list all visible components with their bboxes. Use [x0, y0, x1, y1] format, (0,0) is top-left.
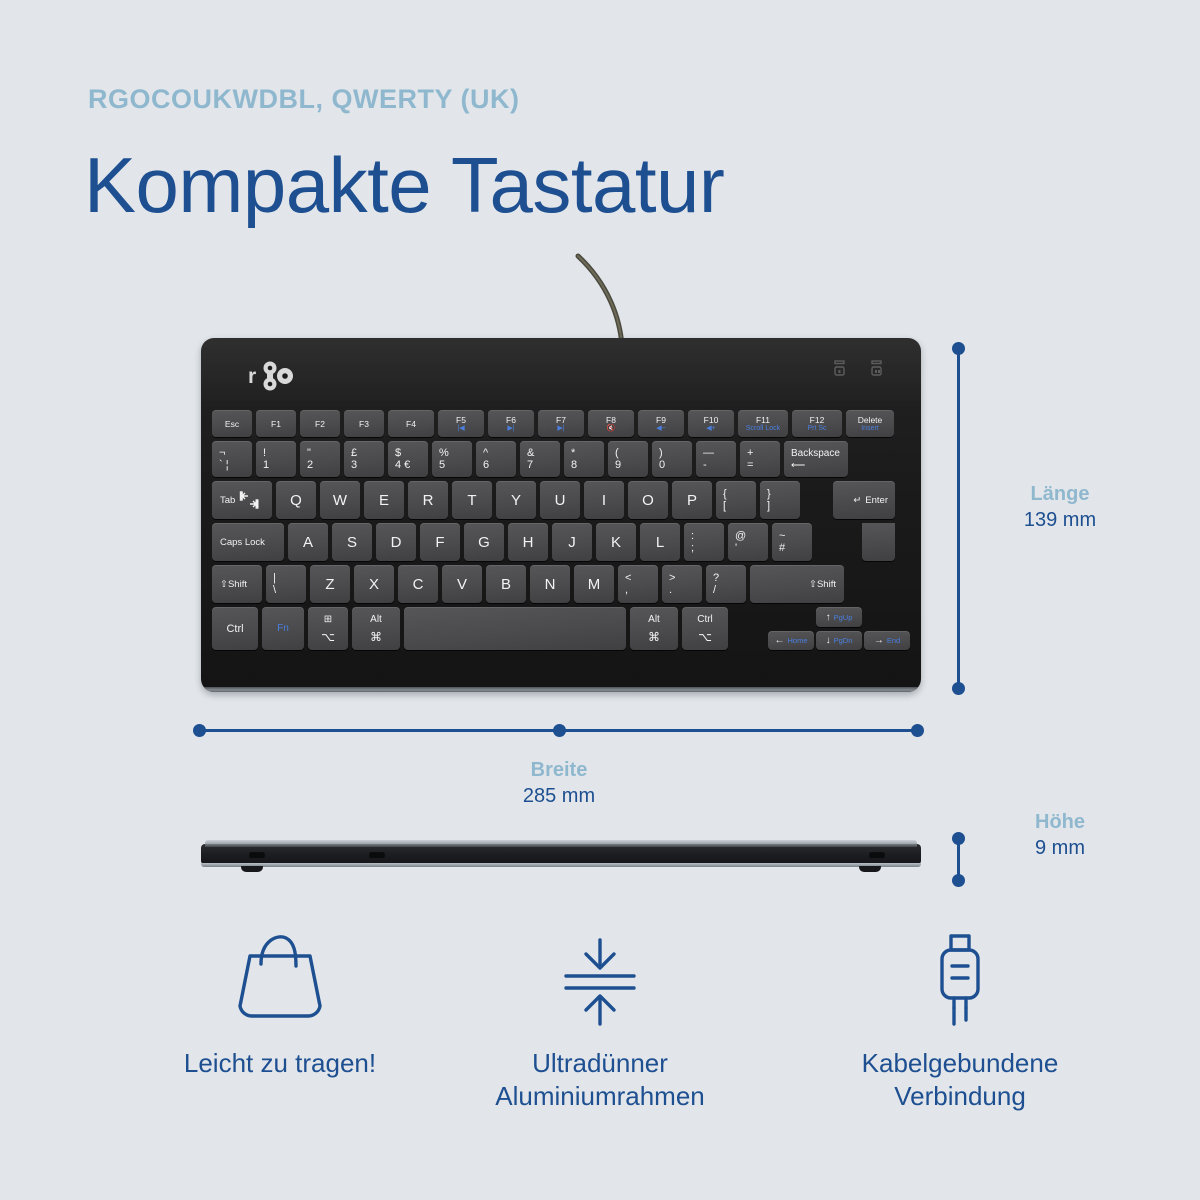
key-shifted-label: £	[351, 448, 357, 459]
home-key-row: Caps LockASDFGHJKL:;@'~#	[212, 523, 816, 561]
key-4[interactable]: $4 €	[388, 441, 428, 477]
key-label: -	[703, 460, 707, 471]
length-dot-bottom	[952, 682, 965, 695]
key-label: /	[713, 585, 716, 596]
key-shifted-label: *	[571, 448, 575, 459]
key-label: 7	[527, 460, 533, 471]
key-d[interactable]: D	[376, 523, 416, 561]
key-label: D	[391, 534, 402, 551]
key-label: N	[545, 576, 556, 593]
key-alt-key[interactable]: Alt⌘	[352, 607, 400, 650]
key-alt-label: ⌥	[321, 631, 335, 643]
key-key[interactable]: ¬` ¦	[212, 441, 252, 477]
key-arrow-pgup[interactable]: ↑PgUp	[816, 607, 862, 627]
key-arrow-glyph: →	[874, 635, 884, 646]
key-label: F5	[456, 415, 466, 425]
key-z[interactable]: Z	[310, 565, 350, 603]
height-label: Höhe	[985, 810, 1135, 835]
key-label: P	[687, 492, 697, 509]
rubber-foot-right	[859, 866, 881, 872]
key-label: M	[588, 576, 601, 593]
key-label: F7	[556, 415, 566, 425]
key-l[interactable]: L	[640, 523, 680, 561]
key-alt-label: ⌘	[370, 631, 382, 643]
modifier-key-row: CtrlFn⊞⌥Alt⌘Alt⌘Ctrl⌥	[212, 607, 732, 650]
key-fn[interactable]: Fn	[262, 607, 304, 650]
svg-text:r: r	[248, 365, 256, 388]
key-label: 5	[439, 460, 445, 471]
key-shifted-label: ~	[779, 531, 785, 542]
key-label: ` ¦	[219, 460, 229, 471]
enter-arrow-icon: ↵	[853, 495, 861, 506]
enter-key-top: ↵ Enter	[833, 481, 895, 519]
shopping-bag-icon	[228, 928, 332, 1032]
key-arrow-end[interactable]: →End	[864, 631, 910, 650]
key-label: I	[602, 492, 606, 509]
key-sublabel: Home	[787, 636, 807, 645]
keyboard-cable	[500, 248, 660, 348]
key-key[interactable]: {[	[716, 481, 756, 519]
width-label: Breite	[484, 758, 634, 783]
page-title: Kompakte Tastatur	[84, 140, 724, 231]
key-shifted-label: ^	[483, 448, 488, 459]
infographic-canvas: RGOCOUKWDBL, QWERTY (UK) Kompakte Tastat…	[0, 0, 1200, 1200]
key-key[interactable]: +=	[740, 441, 780, 477]
key-label: E	[379, 492, 389, 509]
key-key[interactable]: ?/	[706, 565, 746, 603]
length-dimension-line	[957, 348, 960, 688]
key-key[interactable]: <,	[618, 565, 658, 603]
key-label: F6	[506, 415, 516, 425]
key-arrow-glyph: ↓	[826, 635, 831, 646]
feature-thin: Ultradünner Aluminiumrahmen	[420, 925, 780, 1113]
bezel-highlight	[201, 338, 921, 410]
key-key[interactable]: >.	[662, 565, 702, 603]
key-a[interactable]: A	[288, 523, 328, 561]
key-f9[interactable]: F9◀−	[638, 410, 684, 437]
key-ctrl-key[interactable]: Ctrl⌥	[682, 607, 728, 650]
key-label: =	[747, 460, 753, 471]
key-label: F	[435, 534, 444, 551]
qwerty-key-row: TabQWERTYUIOP{[}]	[212, 481, 804, 519]
key-tab[interactable]: Tab	[212, 481, 272, 519]
key-p[interactable]: P	[672, 481, 712, 519]
key-j[interactable]: J	[552, 523, 592, 561]
key-label: C	[413, 576, 424, 593]
key-key-key[interactable]: ⊞⌥	[308, 607, 348, 650]
key-label: Ctrl	[226, 623, 243, 635]
key-shifted-label: +	[747, 448, 753, 459]
key-label: 0	[659, 460, 665, 471]
enter-key[interactable]: ↵ Enter	[833, 481, 895, 561]
key-shifted-label: |	[273, 573, 276, 584]
key-shifted-label: :	[691, 531, 694, 542]
key-label: Tab	[220, 495, 235, 506]
key-label: ,	[625, 585, 628, 596]
length-label: Länge	[985, 482, 1135, 507]
status-led-indicators	[831, 358, 893, 380]
side-keycap-strip	[205, 840, 917, 847]
key-label: F12	[810, 415, 825, 425]
key-label: H	[523, 534, 534, 551]
key-f3[interactable]: F3	[344, 410, 384, 437]
key-sublabel: ▶|	[557, 425, 564, 433]
tab-arrows-icon	[239, 491, 259, 509]
key-label: V	[457, 576, 467, 593]
key-shifted-label: ¬	[219, 448, 225, 459]
key-label: X	[369, 576, 379, 593]
side-body	[201, 844, 921, 864]
key-shifted-label: {	[723, 489, 727, 500]
key-shift[interactable]: ⇧Shift	[750, 565, 844, 603]
key-label: 8	[571, 460, 577, 471]
key-alt-label: ⌥	[698, 631, 712, 643]
feature-wired: Kabelgebundene Verbindung	[780, 925, 1140, 1113]
side-port-left	[249, 851, 265, 858]
key-sublabel: ▶|	[507, 425, 514, 433]
key-3[interactable]: £3	[344, 441, 384, 477]
key-label: 3	[351, 460, 357, 471]
key-sublabel: PgDn	[834, 636, 853, 645]
key-label: Y	[511, 492, 521, 509]
key-label: G	[478, 534, 490, 551]
key-label: Alt	[370, 614, 382, 625]
key-2[interactable]: "2	[300, 441, 340, 477]
feature-wired-line2: Verbindung	[780, 1080, 1140, 1113]
key-label: #	[779, 543, 785, 554]
key-label: 1	[263, 460, 269, 471]
length-value: 139 mm	[985, 507, 1135, 533]
key-arrow-glyph: ←	[774, 635, 784, 646]
key-label: Alt	[648, 614, 660, 625]
usb-plug-icon	[908, 928, 1012, 1032]
key-f1[interactable]: F1	[256, 410, 296, 437]
key-sublabel: ◀−	[656, 425, 665, 433]
key-c[interactable]: C	[398, 565, 438, 603]
key-label: Q	[290, 492, 302, 509]
key-label: F2	[315, 419, 325, 429]
key-sublabel: ◀+	[706, 425, 715, 433]
key-label: A	[303, 534, 313, 551]
key-f11[interactable]: F11Scroll Lock	[738, 410, 788, 437]
key-label: 6	[483, 460, 489, 471]
key-arrow-glyph: ↑	[826, 612, 831, 623]
key-u[interactable]: U	[540, 481, 580, 519]
key-shifted-label: %	[439, 448, 449, 459]
key-f12[interactable]: F12Prt Sc	[792, 410, 842, 437]
key-backspace[interactable]: Backspace⟵	[784, 441, 848, 477]
key-arrow-icon: ⟵	[791, 460, 805, 471]
key-sublabel: 🔇	[607, 425, 616, 433]
key-f10[interactable]: F10◀+	[688, 410, 734, 437]
height-value: 9 mm	[985, 835, 1135, 861]
key-shifted-label: )	[659, 448, 663, 459]
key-label: Fn	[277, 623, 289, 634]
key-label: Backspace	[791, 448, 840, 459]
length-dot-top	[952, 342, 965, 355]
key-shift[interactable]: ⇧Shift	[212, 565, 262, 603]
key-r[interactable]: R	[408, 481, 448, 519]
key-label: B	[501, 576, 511, 593]
key-sublabel: Prt Sc	[807, 425, 826, 433]
key-f8[interactable]: F8🔇	[588, 410, 634, 437]
key-f[interactable]: F	[420, 523, 460, 561]
key-sublabel: Insert	[861, 425, 879, 433]
rubber-foot-left	[241, 866, 263, 872]
key-ctrl[interactable]: Ctrl	[212, 607, 258, 650]
key-label: R	[423, 492, 434, 509]
key-label: J	[568, 534, 576, 551]
key-label: .	[669, 585, 672, 596]
key-y[interactable]: Y	[496, 481, 536, 519]
key-7[interactable]: &7	[520, 441, 560, 477]
key-f2[interactable]: F2	[300, 410, 340, 437]
key-label: F10	[704, 415, 719, 425]
key-label: 4 €	[395, 460, 410, 471]
key-v[interactable]: V	[442, 565, 482, 603]
feature-wired-line1: Kabelgebundene	[780, 1047, 1140, 1080]
key-sublabel: End	[887, 636, 900, 645]
key-label: ⇧Shift	[809, 579, 836, 590]
height-dot-bottom	[952, 874, 965, 887]
key-w[interactable]: W	[320, 481, 360, 519]
function-key-row: EscF1F2F3F4F5|◀F6▶|F7▶|F8🔇F9◀−F10◀+F11Sc…	[212, 410, 898, 437]
key-label: T	[467, 492, 476, 509]
key-arrow-pgdn[interactable]: ↓PgDn	[816, 631, 862, 650]
key-label: ⇧Shift	[220, 579, 247, 590]
enter-key-bottom	[862, 523, 895, 561]
key-key[interactable]: }]	[760, 481, 800, 519]
key-key[interactable]: :;	[684, 523, 724, 561]
key-shifted-label: <	[625, 573, 631, 584]
thin-arrows-icon	[548, 928, 652, 1032]
key-h[interactable]: H	[508, 523, 548, 561]
key-label: Esc	[225, 419, 239, 429]
key-shifted-label: (	[615, 448, 619, 459]
number-key-row: ¬` ¦!1"2£3$4 €%5^6&7*8(9)0—-+=Backspace⟵	[212, 441, 852, 477]
key-shifted-label: &	[527, 448, 534, 459]
key-i[interactable]: I	[584, 481, 624, 519]
key-shifted-label: —	[703, 448, 714, 459]
key-sublabel: PgUp	[834, 613, 853, 622]
key-key[interactable]: |\	[266, 565, 306, 603]
key-label: [	[723, 501, 726, 512]
key-key[interactable]: @'	[728, 523, 768, 561]
key-8[interactable]: *8	[564, 441, 604, 477]
key-shifted-label: !	[263, 448, 266, 459]
key-space[interactable]	[404, 607, 626, 650]
width-value: 285 mm	[484, 783, 634, 809]
keyboard-front-edge	[201, 687, 921, 692]
key-matrix: EscF1F2F3F4F5|◀F6▶|F7▶|F8🔇F9◀−F10◀+F11Sc…	[212, 410, 910, 678]
key-label: K	[611, 534, 621, 551]
height-dot-top	[952, 832, 965, 845]
key-q[interactable]: Q	[276, 481, 316, 519]
key-key[interactable]: ~#	[772, 523, 812, 561]
key-t[interactable]: T	[452, 481, 492, 519]
key-sublabel: |◀	[457, 425, 464, 433]
key-shifted-label: @	[735, 531, 746, 542]
key-n[interactable]: N	[530, 565, 570, 603]
key-label: F8	[606, 415, 616, 425]
key-label: ]	[767, 501, 770, 512]
key-label: 9	[615, 460, 621, 471]
feature-thin-line2: Aluminiumrahmen	[420, 1080, 780, 1113]
key-f6[interactable]: F6▶|	[488, 410, 534, 437]
key-label: U	[555, 492, 566, 509]
key-label: ⊞	[324, 614, 332, 625]
key-5[interactable]: %5	[432, 441, 472, 477]
key-label: \	[273, 585, 276, 596]
key-arrow-home[interactable]: ←Home	[768, 631, 814, 650]
key-label: L	[656, 534, 664, 551]
feature-thin-line1: Ultradünner	[420, 1047, 780, 1080]
enter-key-label: Enter	[865, 495, 888, 506]
key-label: F9	[656, 415, 666, 425]
aluminium-frame-edge	[201, 863, 921, 867]
key-sublabel: Scroll Lock	[746, 425, 780, 433]
keyboard-top-view: r EscF1F2F3F4F5|◀F6▶|F7▶|F8🔇F9◀	[201, 338, 921, 692]
key-m[interactable]: M	[574, 565, 614, 603]
key-o[interactable]: O	[628, 481, 668, 519]
width-dot-left	[193, 724, 206, 737]
key-label: S	[347, 534, 357, 551]
width-dot-center	[553, 724, 566, 737]
key-label: 2	[307, 460, 313, 471]
key-label: Delete	[858, 415, 883, 425]
key-key[interactable]: —-	[696, 441, 736, 477]
key-delete[interactable]: DeleteInsert	[846, 410, 894, 437]
key-label: Caps Lock	[220, 537, 265, 548]
key-g[interactable]: G	[464, 523, 504, 561]
key-label: F3	[359, 419, 369, 429]
key-label: W	[333, 492, 347, 509]
key-f5[interactable]: F5|◀	[438, 410, 484, 437]
key-shifted-label: ?	[713, 573, 719, 584]
key-alt-key[interactable]: Alt⌘	[630, 607, 678, 650]
key-shifted-label: >	[669, 573, 675, 584]
key-k[interactable]: K	[596, 523, 636, 561]
key-1[interactable]: !1	[256, 441, 296, 477]
key-e[interactable]: E	[364, 481, 404, 519]
rgo-logo: r	[248, 359, 304, 393]
key-shifted-label: "	[307, 448, 311, 459]
key-9[interactable]: (9	[608, 441, 648, 477]
key-shifted-label: $	[395, 448, 401, 459]
shift-key-row: ⇧Shift|\ZXCVBNM<,>.?/⇧Shift	[212, 565, 848, 603]
product-code-subtitle: RGOCOUKWDBL, QWERTY (UK)	[88, 84, 519, 115]
key-esc[interactable]: Esc	[212, 410, 252, 437]
key-shifted-label: }	[767, 489, 771, 500]
key-0[interactable]: )0	[652, 441, 692, 477]
key-label: ;	[691, 543, 694, 554]
key-label: F1	[271, 419, 281, 429]
key-label: '	[735, 543, 737, 554]
key-x[interactable]: X	[354, 565, 394, 603]
key-caps-lock[interactable]: Caps Lock	[212, 523, 284, 561]
key-f4[interactable]: F4	[388, 410, 434, 437]
key-label: O	[642, 492, 654, 509]
key-label: Z	[325, 576, 334, 593]
key-s[interactable]: S	[332, 523, 372, 561]
key-f7[interactable]: F7▶|	[538, 410, 584, 437]
key-label: Ctrl	[697, 614, 713, 625]
key-b[interactable]: B	[486, 565, 526, 603]
side-port-right	[869, 851, 885, 858]
key-alt-label: ⌘	[648, 631, 660, 643]
key-label: F11	[756, 415, 770, 425]
keyboard-side-view	[201, 838, 921, 872]
key-6[interactable]: ^6	[476, 441, 516, 477]
width-dot-right	[911, 724, 924, 737]
side-port-mid	[369, 851, 385, 858]
key-label: F4	[406, 419, 416, 429]
